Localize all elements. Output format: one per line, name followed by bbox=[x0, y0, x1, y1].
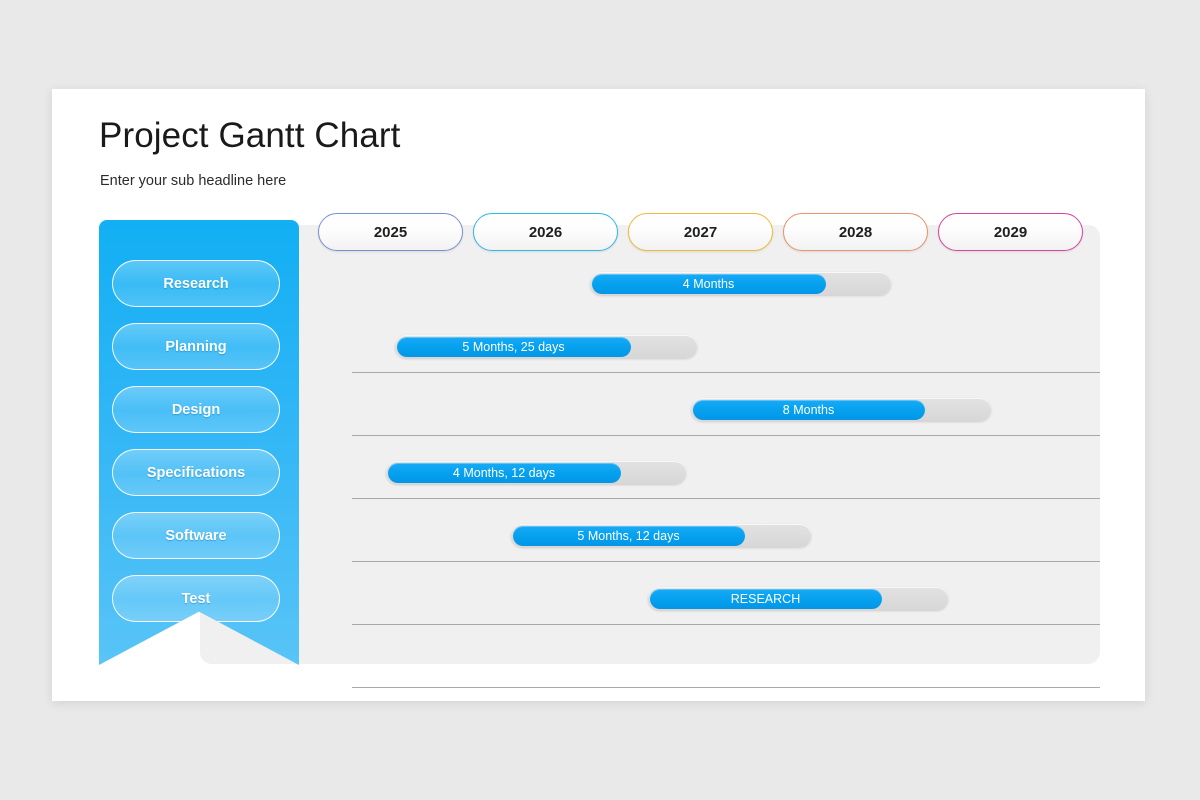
gridline-row-6 bbox=[352, 687, 1100, 688]
task-bar-label: 4 Months bbox=[683, 277, 734, 291]
page-title: Project Gantt Chart bbox=[99, 116, 400, 156]
phase-pill-label: Test bbox=[182, 591, 211, 607]
task-bar-label: 8 Months bbox=[783, 403, 834, 417]
phase-pill-research[interactable]: Research bbox=[112, 260, 280, 307]
task-bar-test[interactable]: RESEARCH bbox=[648, 587, 948, 610]
task-bar-design[interactable]: 8 Months bbox=[691, 398, 991, 421]
year-pill-2025[interactable]: 2025 bbox=[318, 213, 463, 251]
year-pill-label: 2028 bbox=[839, 224, 872, 241]
gridline-row-4 bbox=[352, 561, 1100, 562]
phase-pill-design[interactable]: Design bbox=[112, 386, 280, 433]
year-pill-label: 2025 bbox=[374, 224, 407, 241]
phase-pill-label: Research bbox=[163, 276, 228, 292]
task-bar-label: 5 Months, 12 days bbox=[577, 529, 679, 543]
task-bar-fill: 4 Months, 12 days bbox=[388, 463, 621, 483]
task-bar-fill: 4 Months bbox=[592, 274, 826, 294]
year-pill-label: 2026 bbox=[529, 224, 562, 241]
phase-pill-label: Specifications bbox=[147, 465, 245, 481]
year-pill-2026[interactable]: 2026 bbox=[473, 213, 618, 251]
task-bar-fill: 8 Months bbox=[693, 400, 925, 420]
task-bar-specifications[interactable]: 4 Months, 12 days bbox=[386, 461, 686, 484]
phase-pill-specifications[interactable]: Specifications bbox=[112, 449, 280, 496]
year-pill-label: 2029 bbox=[994, 224, 1027, 241]
gridline-row-2 bbox=[352, 435, 1100, 436]
phase-pill-software[interactable]: Software bbox=[112, 512, 280, 559]
phase-pill-label: Design bbox=[172, 402, 220, 418]
year-pill-label: 2027 bbox=[684, 224, 717, 241]
task-bar-fill: 5 Months, 12 days bbox=[513, 526, 745, 546]
task-bar-planning[interactable]: 5 Months, 25 days bbox=[395, 335, 697, 358]
phase-sidebar-ribbon: ResearchPlanningDesignSpecificationsSoft… bbox=[99, 220, 299, 665]
gridline-row-1 bbox=[352, 372, 1100, 373]
task-bar-fill: RESEARCH bbox=[650, 589, 882, 609]
year-pill-2027[interactable]: 2027 bbox=[628, 213, 773, 251]
phase-pill-label: Planning bbox=[165, 339, 226, 355]
year-pill-2028[interactable]: 2028 bbox=[783, 213, 928, 251]
gridline-row-3 bbox=[352, 498, 1100, 499]
task-bar-software[interactable]: 5 Months, 12 days bbox=[511, 524, 811, 547]
phase-pill-planning[interactable]: Planning bbox=[112, 323, 280, 370]
year-pill-2029[interactable]: 2029 bbox=[938, 213, 1083, 251]
task-bar-label: 4 Months, 12 days bbox=[453, 466, 555, 480]
task-bar-research[interactable]: 4 Months bbox=[590, 272, 891, 295]
phase-pill-label: Software bbox=[165, 528, 226, 544]
timeline-year-axis: 20252026202720282029 bbox=[318, 213, 1084, 251]
page-subtitle: Enter your sub headline here bbox=[100, 173, 286, 189]
gridline-row-5 bbox=[352, 624, 1100, 625]
task-bar-fill: 5 Months, 25 days bbox=[397, 337, 631, 357]
task-bar-label: RESEARCH bbox=[731, 592, 800, 606]
task-bar-label: 5 Months, 25 days bbox=[462, 340, 564, 354]
